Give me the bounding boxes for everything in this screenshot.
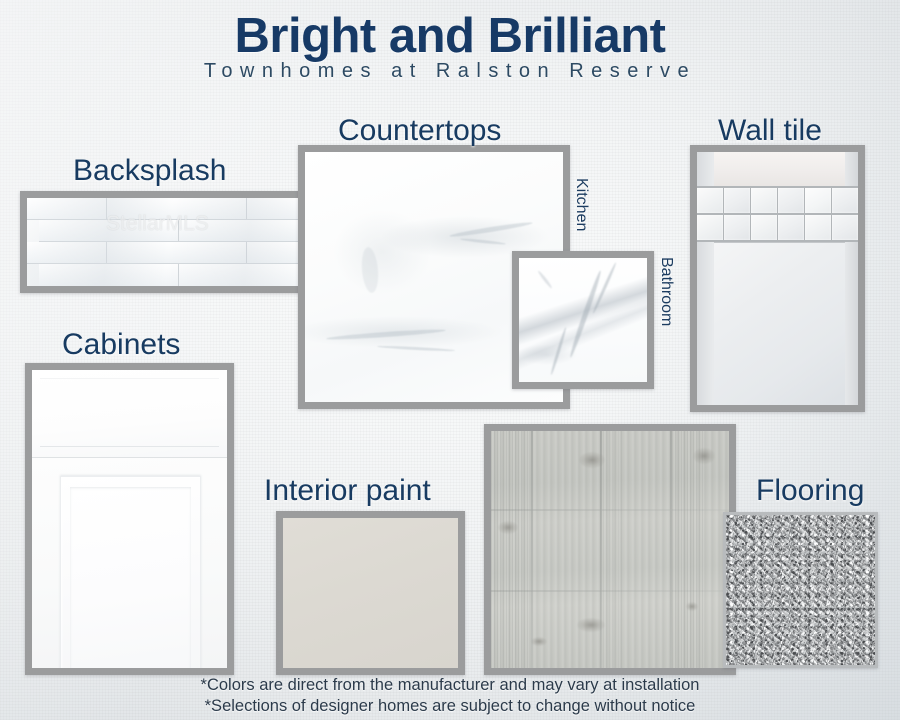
carrara-marble-texture — [519, 258, 647, 382]
wall-tile-mosaic-band — [697, 186, 858, 242]
backsplash-subway-tile-texture — [27, 198, 300, 286]
wall-tile-upper-band — [714, 152, 845, 187]
label-backsplash: Backsplash — [73, 154, 226, 188]
cabinet-drawer-front — [32, 370, 227, 458]
swatch-interior-paint — [276, 511, 465, 675]
swatch-lvp-flooring — [484, 424, 736, 675]
wall-tile-large-panel — [714, 242, 845, 405]
disclaimer-line-1: *Colors are direct from the manufacturer… — [0, 675, 900, 696]
label-countertop-bathroom: Bathroom — [657, 257, 675, 326]
label-countertop-kitchen: Kitchen — [572, 178, 590, 231]
label-countertops: Countertops — [338, 114, 501, 148]
cabinet-door-panel — [70, 487, 191, 675]
label-wall-tile: Wall tile — [718, 114, 822, 148]
shaker-cabinet-texture — [32, 370, 227, 668]
swatch-countertop-bathroom — [512, 251, 654, 389]
swatch-cabinets — [25, 363, 234, 675]
label-interior-paint: Interior paint — [264, 474, 431, 508]
paint-color-fill — [283, 518, 458, 668]
swatch-backsplash — [20, 191, 307, 293]
swatch-wall-tile — [690, 145, 865, 412]
wall-tile-texture — [697, 152, 858, 405]
tile-sheen-overlay — [27, 198, 300, 286]
design-selection-board: Bright and Brilliant Townhomes at Ralsto… — [0, 0, 900, 720]
wood-plank-texture — [491, 431, 729, 668]
page-subtitle: Townhomes at Ralston Reserve — [0, 60, 900, 83]
cabinet-door-front — [32, 459, 227, 668]
label-flooring: Flooring — [756, 474, 864, 508]
label-cabinets: Cabinets — [62, 328, 180, 362]
swatch-carpet-flooring — [723, 512, 878, 668]
page-title: Bright and Brilliant — [0, 8, 900, 64]
disclaimer-footer: *Colors are direct from the manufacturer… — [0, 675, 900, 717]
carpet-speckle-texture — [726, 515, 875, 665]
disclaimer-line-2: *Selections of designer homes are subjec… — [0, 696, 900, 717]
